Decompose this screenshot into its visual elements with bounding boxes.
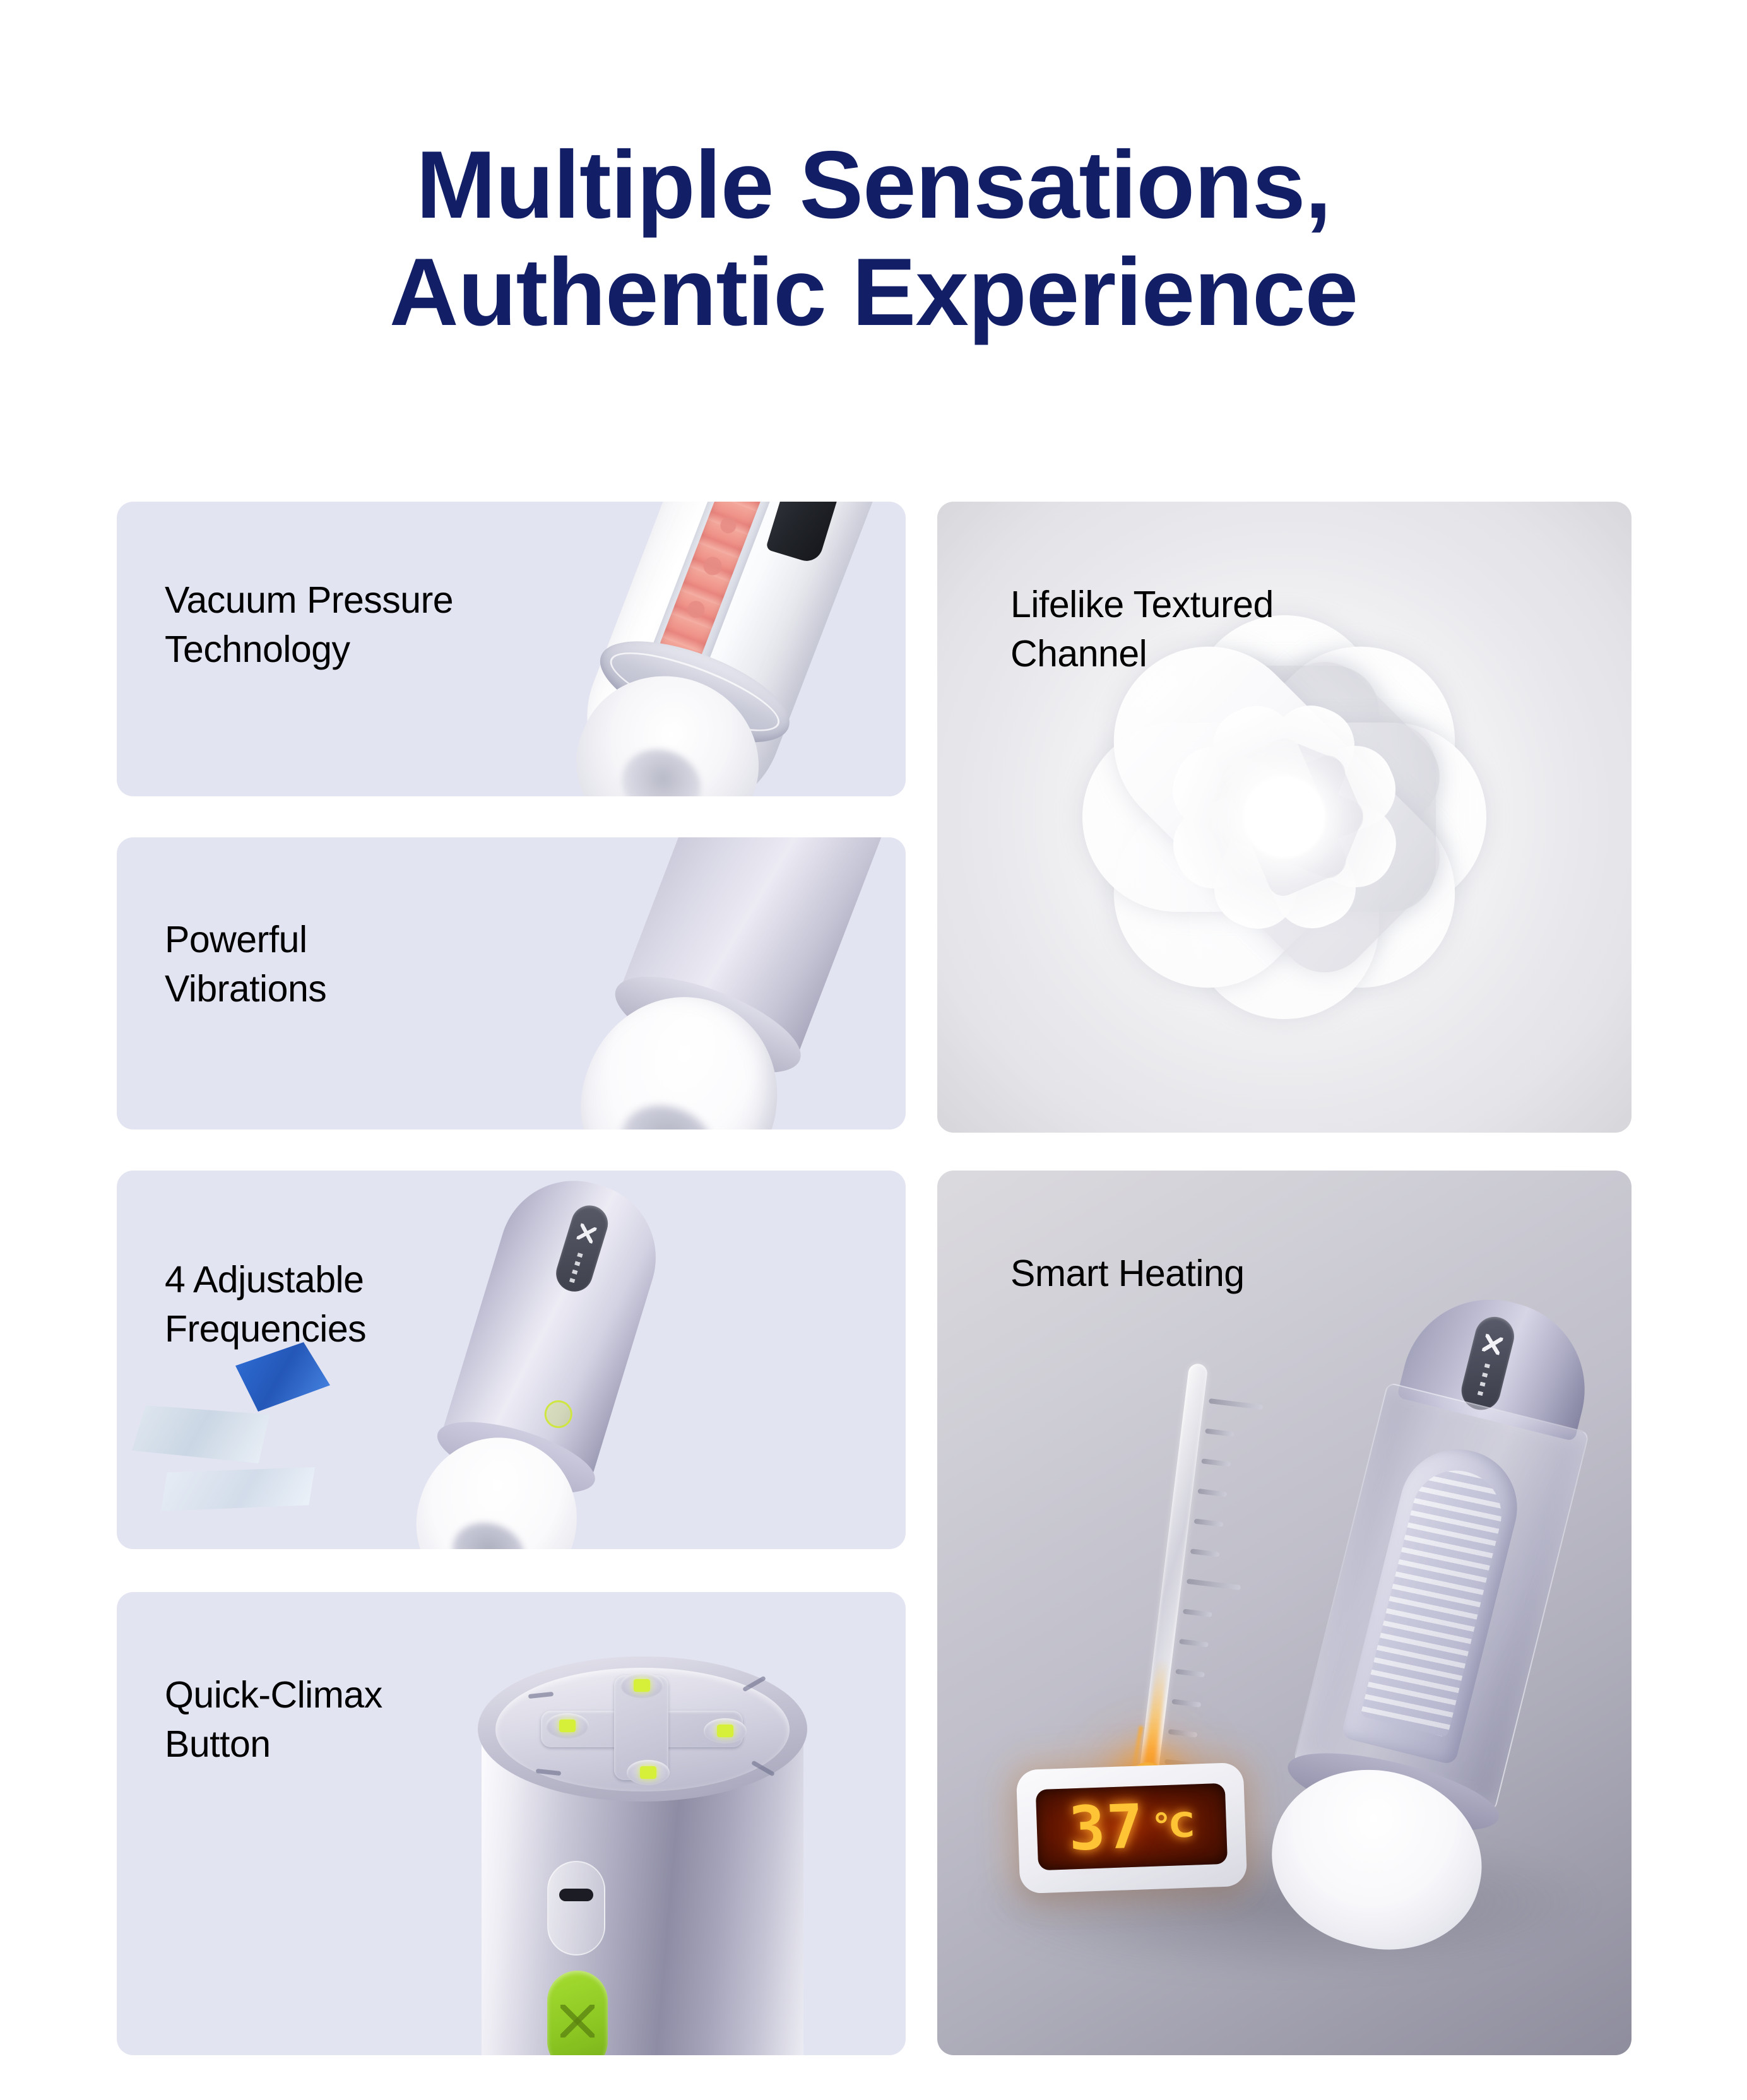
frequency-device-illustration: [386, 1171, 700, 1549]
temperature-value: 37: [1068, 1791, 1146, 1864]
glass-shard-icon: [132, 1405, 269, 1463]
feature-grid: Vacuum Pressure Technology Powerful Vibr…: [117, 502, 1632, 2055]
thermometer-tick-minor: [1201, 1458, 1231, 1467]
thermometer-tick-minor: [1171, 1699, 1201, 1708]
dpad-button-down: [627, 1760, 670, 1785]
feature-card-quick-climax-button[interactable]: Quick-Climax Button: [117, 1592, 906, 2055]
page-title-line-2: Authentic Experience: [0, 239, 1747, 346]
thermometer-tick-minor: [1190, 1548, 1220, 1557]
feature-card-lifelike-textured-channel[interactable]: Lifelike Textured Channel: [937, 502, 1632, 1133]
feature-card-vacuum-pressure[interactable]: Vacuum Pressure Technology: [117, 502, 906, 796]
feature-label-smart-heating: Smart Heating: [1010, 1249, 1245, 1299]
thermometer-tick-minor: [1183, 1608, 1212, 1617]
thermometer-tick-minor: [1194, 1519, 1224, 1528]
charging-port-icon: [547, 1861, 605, 1955]
dpad-button-right: [704, 1718, 747, 1743]
feature-label-lifelike-textured-channel: Lifelike Textured Channel: [1010, 581, 1274, 679]
page-title-line-1: Multiple Sensations,: [0, 131, 1747, 239]
level-indicator-dots-icon: [1477, 1364, 1490, 1399]
thermometer-tick-major: [1209, 1398, 1263, 1410]
feature-card-powerful-vibrations[interactable]: Powerful Vibrations: [117, 837, 906, 1130]
vacuum-device-illustration: [471, 502, 906, 796]
feature-card-smart-heating[interactable]: 37 ℃ Smart Heating: [937, 1171, 1632, 2055]
led-indicator-icon: [717, 1725, 733, 1737]
level-indicator-dots-icon: [569, 1253, 583, 1283]
dpad-button-up: [620, 1673, 663, 1698]
led-indicator-icon: [634, 1679, 650, 1692]
feature-label-quick-climax-button: Quick-Climax Button: [165, 1671, 382, 1769]
thermometer-tick-minor: [1205, 1429, 1235, 1437]
vibration-device-illustration: [490, 837, 906, 1130]
thermometer-tick-major: [1187, 1579, 1241, 1590]
temperature-screen: 37 ℃: [1036, 1783, 1228, 1870]
x-logo-icon: [576, 1223, 596, 1243]
feature-label-vacuum-pressure: Vacuum Pressure Technology: [165, 576, 453, 675]
page-title: Multiple Sensations, Authentic Experienc…: [0, 131, 1747, 346]
thermometer-tick-minor: [1197, 1489, 1227, 1497]
temperature-unit: ℃: [1152, 1805, 1195, 1846]
frequency-scene-illustration: [117, 1171, 906, 1549]
quick-climax-illustration: [117, 1592, 906, 2055]
led-indicator-icon: [640, 1766, 656, 1779]
thermometer-tube-icon: [1139, 1363, 1208, 1779]
glass-shard-icon: [161, 1467, 315, 1511]
quick-climax-green-button-icon: [547, 1971, 608, 2055]
product-feature-page: Multiple Sensations, Authentic Experienc…: [0, 0, 1747, 2100]
thermometer-tick-minor: [1168, 1729, 1198, 1738]
smart-heating-illustration: 37 ℃: [937, 1171, 1632, 2055]
thermometer-tick-minor: [1179, 1639, 1209, 1648]
feature-label-powerful-vibrations: Powerful Vibrations: [165, 916, 326, 1014]
dpad-button-left: [546, 1713, 589, 1738]
control-panel-device-illustration: [440, 1643, 844, 2055]
thermometer-tick-minor: [1175, 1669, 1205, 1678]
feature-card-adjustable-frequencies[interactable]: 4 Adjustable Frequencies: [117, 1171, 906, 1549]
led-indicator-icon: [559, 1720, 576, 1732]
feature-label-adjustable-frequencies: 4 Adjustable Frequencies: [165, 1256, 366, 1354]
x-logo-icon: [1482, 1334, 1503, 1355]
